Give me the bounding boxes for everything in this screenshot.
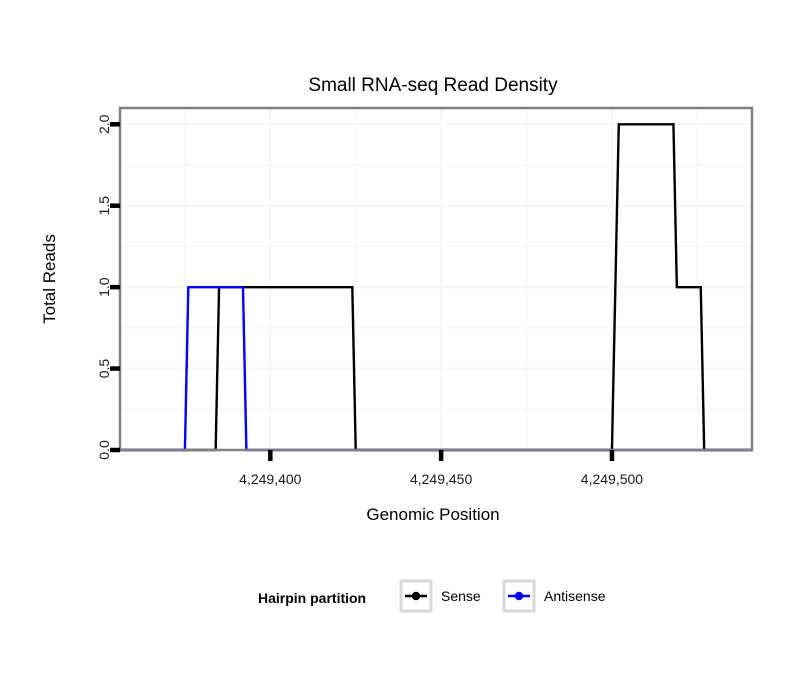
- y-axis-tick-label: 1.0: [96, 277, 112, 297]
- y-axis-tick-label: 0.0: [96, 440, 112, 460]
- y-axis-title: Total Reads: [40, 234, 59, 324]
- y-axis-tick-label: 0.5: [96, 359, 112, 379]
- x-axis-title: Genomic Position: [366, 505, 499, 524]
- x-axis-tick-label: 4,249,500: [581, 471, 643, 487]
- y-axis-tick-label: 2.0: [96, 114, 112, 134]
- legend-title: Hairpin partition: [258, 590, 366, 606]
- legend-key-point-icon: [412, 592, 420, 600]
- legend-key-point-icon: [515, 592, 523, 600]
- x-axis-tick-label: 4,249,450: [410, 471, 472, 487]
- panel-background: [120, 108, 752, 450]
- plot-panel: [120, 108, 752, 450]
- chart-container: Small RNA-seq Read Density Total Reads G…: [0, 0, 810, 690]
- chart-title: Small RNA-seq Read Density: [308, 75, 558, 96]
- x-axis-tick-label: 4,249,400: [239, 471, 301, 487]
- legend-entry-label: Antisense: [544, 588, 606, 604]
- y-axis-tick-label: 1.5: [96, 196, 112, 216]
- chart-svg: Small RNA-seq Read Density Total Reads G…: [0, 0, 810, 690]
- legend-entry-label: Sense: [441, 588, 481, 604]
